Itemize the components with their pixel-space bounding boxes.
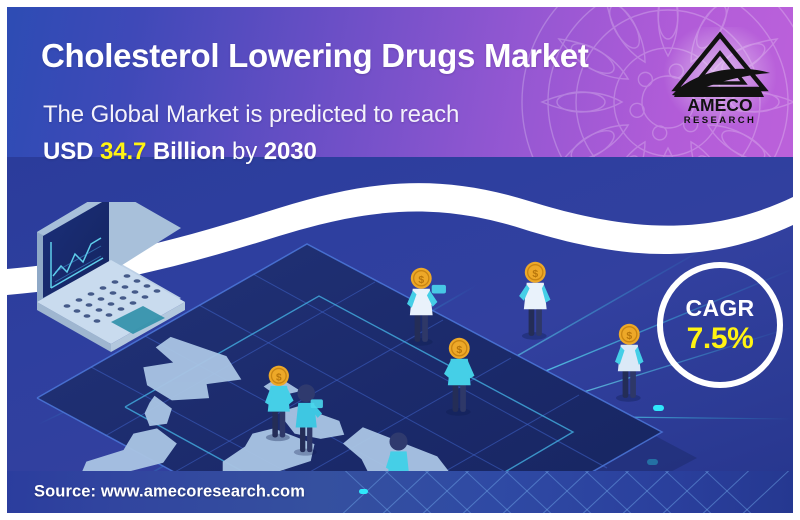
infographic-inner: $ [7, 7, 793, 513]
isometric-illustration: $ [7, 202, 707, 502]
figure-asia-central: $ [519, 262, 550, 340]
brand-tagline-text: RESEARCH [684, 115, 757, 126]
svg-text:$: $ [456, 345, 462, 356]
svg-text:$: $ [418, 275, 424, 286]
footer-bar: Source: www.amecoresearch.com [7, 471, 793, 513]
figure-asia-east: $ [615, 324, 644, 402]
cagr-value: 7.5% [687, 324, 754, 354]
source-label: Source: www.amecoresearch.com [34, 483, 305, 502]
ameco-triangle-logo-icon: AMECO RESEARCH [664, 27, 776, 127]
currency-label: USD [43, 138, 93, 165]
cagr-badge: CAGR 7.5% [657, 262, 783, 388]
infographic-canvas: $ [0, 0, 800, 520]
market-value: 34.7 [100, 138, 146, 165]
svg-text:$: $ [276, 372, 282, 383]
subtitle-line-1: The Global Market is predicted to reach [43, 102, 643, 128]
svg-text:$: $ [626, 331, 632, 342]
brand-name-text: AMECO [687, 95, 752, 115]
unit-label: Billion [153, 138, 226, 165]
forecast-year: 2030 [264, 138, 317, 165]
brand-logo[interactable]: AMECO RESEARCH [664, 27, 776, 127]
svg-text:$: $ [532, 269, 538, 280]
page-title: Cholesterol Lowering Drugs Market [41, 38, 641, 74]
subtitle-line-2: USD 34.7 Billion by 2030 [43, 139, 663, 165]
cagr-label: CAGR [686, 297, 755, 320]
connector-label: by [232, 138, 257, 165]
